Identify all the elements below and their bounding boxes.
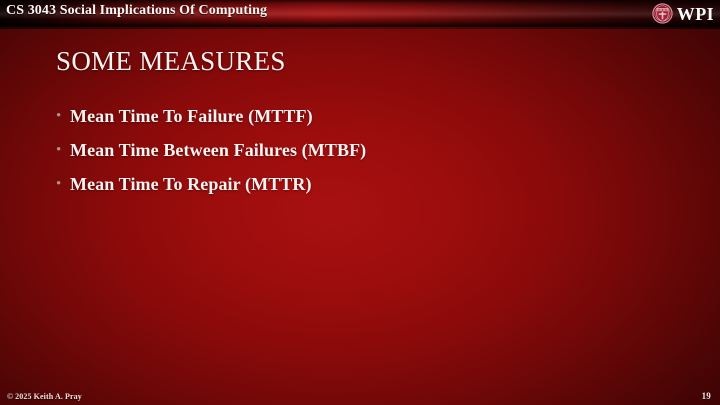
bullet-marker-icon: • (56, 109, 70, 124)
wpi-logo: WPI (652, 1, 714, 26)
list-item-label: Mean Time To Repair (MTTR) (70, 174, 312, 195)
footer-copyright: © 2025 Keith A. Pray (7, 392, 82, 401)
wpi-wordmark: WPI (677, 5, 714, 23)
bullet-marker-icon: • (56, 177, 70, 192)
list-item: • Mean Time To Repair (MTTR) (56, 174, 656, 208)
list-item-label: Mean Time To Failure (MTTF) (70, 106, 313, 127)
header-bar-divider (0, 27, 720, 29)
page-number: 19 (702, 391, 711, 401)
list-item: • Mean Time Between Failures (MTBF) (56, 140, 656, 174)
list-item-label: Mean Time Between Failures (MTBF) (70, 140, 366, 161)
slide-canvas: CS 3043 Social Implications Of Computing… (0, 0, 720, 405)
slide-title: SOME MEASURES (56, 46, 286, 77)
bullet-list: • Mean Time To Failure (MTTF) • Mean Tim… (56, 106, 656, 208)
wpi-seal-icon (652, 3, 673, 24)
list-item: • Mean Time To Failure (MTTF) (56, 106, 656, 140)
course-title: CS 3043 Social Implications Of Computing (6, 3, 267, 19)
bullet-marker-icon: • (56, 143, 70, 158)
